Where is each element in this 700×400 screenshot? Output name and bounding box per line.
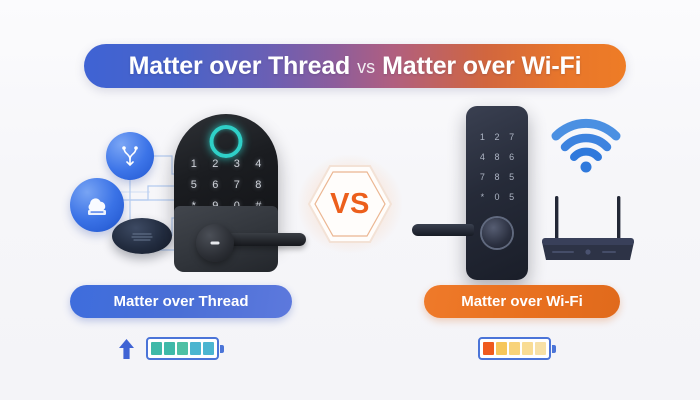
battery-cap — [552, 345, 556, 353]
battery-cell — [535, 342, 546, 355]
battery-shell — [146, 337, 219, 360]
battery-full — [146, 337, 224, 360]
battery-draining — [478, 337, 556, 360]
title-banner: Matter over Thread vs Matter over Wi-Fi — [84, 44, 626, 88]
lock-handle[interactable] — [412, 224, 474, 236]
banner-left-text: Matter over Thread — [129, 52, 350, 81]
keypad-key[interactable]: 7 — [475, 172, 490, 182]
battery-cap — [220, 345, 224, 353]
keypad-key[interactable]: 2 — [205, 158, 227, 170]
lock-handle[interactable] — [224, 233, 306, 246]
battery-cell — [164, 342, 175, 355]
thread-mesh-node — [106, 132, 154, 180]
battery-cell — [203, 342, 214, 355]
label-matter-over-wifi[interactable]: Matter over Wi-Fi — [424, 285, 620, 318]
keypad-key[interactable]: 7 — [504, 132, 519, 142]
battery-indicator-thread — [118, 337, 224, 360]
smart-lock-wifi: 1 2 7 4 8 6 7 8 5 * 0 5 — [466, 106, 528, 280]
arrow-up-icon — [118, 338, 135, 360]
keypad-key[interactable]: 4 — [475, 152, 490, 162]
battery-cell — [522, 342, 533, 355]
keypad-key[interactable]: 5 — [504, 192, 519, 202]
keypad-key[interactable]: 1 — [183, 158, 205, 170]
router-antenna-right — [617, 196, 620, 240]
keypad-key[interactable]: 8 — [490, 152, 505, 162]
keypad-key[interactable]: 1 — [475, 132, 490, 142]
hub-speaker-icon — [129, 229, 155, 243]
keypad-key[interactable]: 5 — [183, 179, 205, 191]
keypad-key[interactable]: 6 — [504, 152, 519, 162]
keypad-key[interactable]: 4 — [248, 158, 270, 170]
keypad-key[interactable]: 8 — [490, 172, 505, 182]
vs-badge: VS — [306, 163, 394, 245]
battery-cell — [151, 342, 162, 355]
keypad-key[interactable]: 7 — [226, 179, 248, 191]
battery-indicator-wifi — [478, 337, 556, 360]
banner-vs-text: vs — [357, 57, 375, 78]
wifi-dot — [581, 162, 592, 173]
lock-keypad[interactable]: 1 2 3 4 5 6 7 8 * 9 0 # — [183, 158, 269, 212]
fingerprint-reader[interactable] — [482, 218, 512, 248]
keypad-key[interactable]: 6 — [205, 179, 227, 191]
battery-cell — [496, 342, 507, 355]
banner-right-text: Matter over Wi-Fi — [382, 52, 581, 81]
lock-keypad[interactable]: 1 2 7 4 8 6 7 8 5 * 0 5 — [475, 132, 519, 202]
battery-cell — [483, 342, 494, 355]
status-ring-indicator — [210, 125, 243, 158]
wifi-icon — [548, 114, 624, 176]
lock-body: 1 2 7 4 8 6 7 8 5 * 0 5 — [466, 106, 528, 280]
keypad-key[interactable]: 3 — [226, 158, 248, 170]
battery-cell — [190, 342, 201, 355]
lock-thumbturn[interactable] — [196, 224, 234, 262]
vs-label: VS — [306, 163, 394, 245]
thread-mesh-icon — [117, 143, 143, 169]
hub-device-node — [112, 218, 172, 254]
smart-lock-thread: 1 2 3 4 5 6 7 8 * 9 0 # — [174, 114, 278, 272]
cloud-router-icon — [81, 191, 113, 219]
keypad-key[interactable]: 2 — [490, 132, 505, 142]
router-device — [536, 194, 640, 266]
cloud-gateway-node — [70, 178, 124, 232]
label-matter-over-thread[interactable]: Matter over Thread — [70, 285, 292, 318]
keypad-key[interactable]: 5 — [504, 172, 519, 182]
keypad-key[interactable]: 8 — [248, 179, 270, 191]
router-antenna-left — [555, 196, 558, 240]
battery-cell — [509, 342, 520, 355]
infographic-canvas: Matter over Thread vs Matter over Wi-Fi — [0, 0, 700, 400]
battery-cell — [177, 342, 188, 355]
wifi-panel: 1 2 7 4 8 6 7 8 5 * 0 5 — [448, 100, 678, 285]
thread-panel: 1 2 3 4 5 6 7 8 * 9 0 # — [26, 100, 296, 285]
keypad-key[interactable]: 0 — [490, 192, 505, 202]
battery-shell — [478, 337, 551, 360]
keypad-key[interactable]: * — [475, 192, 490, 202]
